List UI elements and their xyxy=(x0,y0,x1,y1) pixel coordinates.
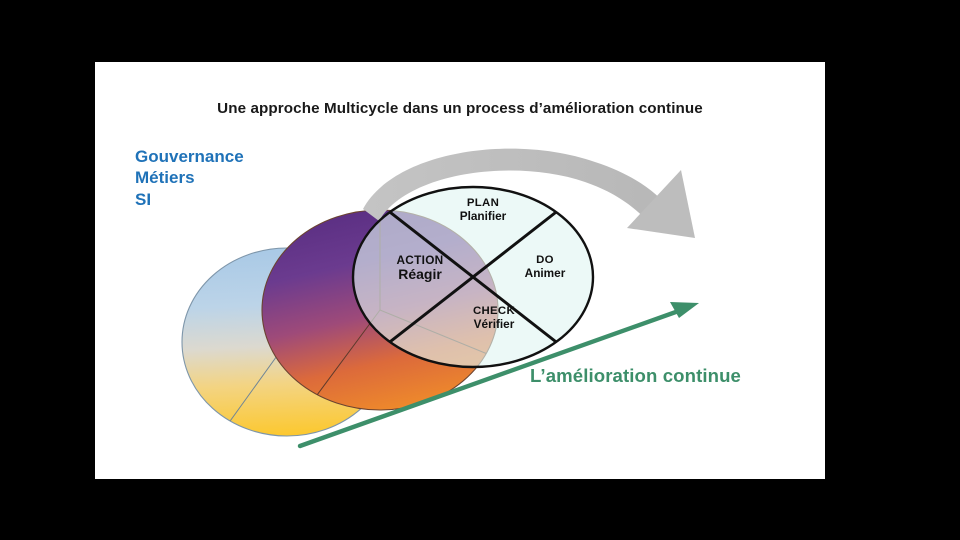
pdca-plan-en: PLAN xyxy=(428,197,538,210)
pdca-do-en: DO xyxy=(495,254,595,267)
pdca-plan-fr: Planifier xyxy=(428,210,538,223)
pdca-check-fr: Vérifier xyxy=(439,318,549,331)
pdca-quadrant-action: ACTION Réagir xyxy=(365,254,475,283)
pdca-action-fr: Réagir xyxy=(365,267,475,283)
pdca-quadrant-plan: PLAN Planifier xyxy=(428,197,538,223)
pdca-check-en: CHECK xyxy=(439,305,549,318)
slide-canvas: Une approche Multicycle dans un process … xyxy=(95,62,825,479)
improvement-arrow-label: L’amélioration continue xyxy=(530,365,741,387)
slide-stage: Une approche Multicycle dans un process … xyxy=(0,0,960,540)
pdca-quadrant-check: CHECK Vérifier xyxy=(439,305,549,331)
pdca-quadrant-do: DO Animer xyxy=(495,254,595,280)
pdca-do-fr: Animer xyxy=(495,267,595,280)
